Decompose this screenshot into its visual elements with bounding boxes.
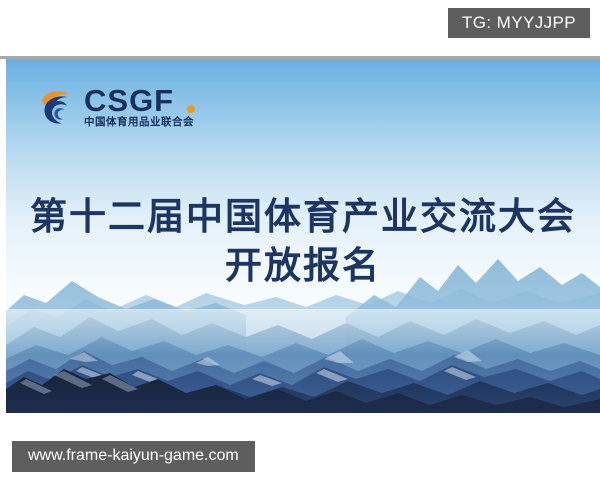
logo-wordmark-text: CSGF: [84, 83, 174, 118]
logo-accent-dot: [187, 105, 195, 113]
event-promo-banner: CSGF 中国体育用品业联合会 第十二届中国体育产业交流大会 开放报名: [6, 59, 600, 413]
logo-wordmark: CSGF: [84, 86, 194, 115]
headline-line-2: 开放报名: [6, 242, 600, 291]
csgf-logo: CSGF 中国体育用品业联合会: [34, 85, 194, 129]
site-url-watermark: www.frame-kaiyun-game.com: [12, 441, 255, 472]
banner-headline: 第十二届中国体育产业交流大会 开放报名: [6, 193, 600, 291]
header-divider-rule: [0, 56, 600, 59]
csgf-swoosh-icon: [34, 85, 78, 129]
logo-subtitle: 中国体育用品业联合会: [84, 117, 194, 129]
headline-line-1: 第十二届中国体育产业交流大会: [6, 193, 600, 242]
telegram-watermark-badge: TG: MYYJJPP: [448, 8, 590, 38]
